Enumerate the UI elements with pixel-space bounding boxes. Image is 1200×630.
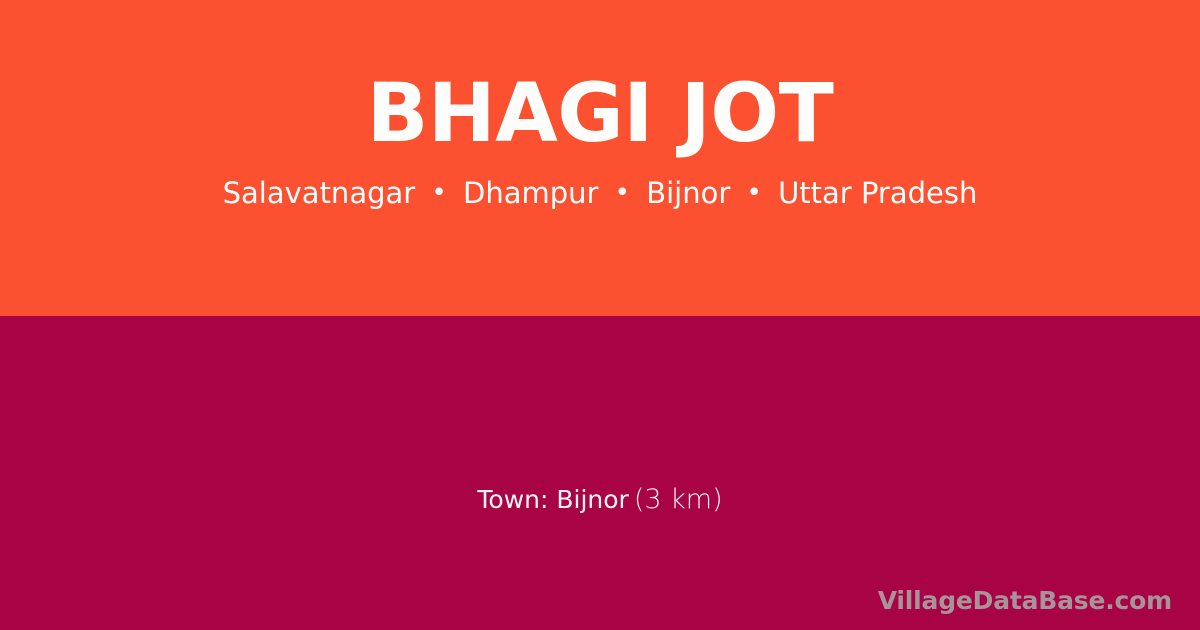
- breadcrumb-item-state: Uttar Pradesh: [778, 176, 977, 210]
- hero-banner: BHAGI JOT Salavatnagar • Dhampur • Bijno…: [0, 0, 1200, 316]
- breadcrumb-separator-icon: •: [424, 179, 453, 209]
- breadcrumb-separator-icon: •: [740, 179, 769, 209]
- breadcrumb-item-village: Salavatnagar: [223, 176, 416, 210]
- breadcrumb-item-block: Dhampur: [463, 176, 598, 210]
- breadcrumb-separator-icon: •: [608, 179, 637, 209]
- nearest-town-label: Town: Bijnor: [477, 485, 628, 514]
- village-info-card: BHAGI JOT Salavatnagar • Dhampur • Bijno…: [0, 0, 1200, 630]
- page-title: BHAGI JOT: [367, 74, 834, 155]
- nearest-town-row: Town: Bijnor(3 km): [0, 484, 1200, 516]
- nearest-town-distance: (3 km): [629, 484, 723, 515]
- breadcrumb: Salavatnagar • Dhampur • Bijnor • Uttar …: [223, 177, 978, 210]
- breadcrumb-item-district: Bijnor: [646, 176, 730, 210]
- site-watermark: VillageDataBase.com: [878, 586, 1172, 616]
- detail-panel: Town: Bijnor(3 km) VillageDataBase.com: [0, 316, 1200, 630]
